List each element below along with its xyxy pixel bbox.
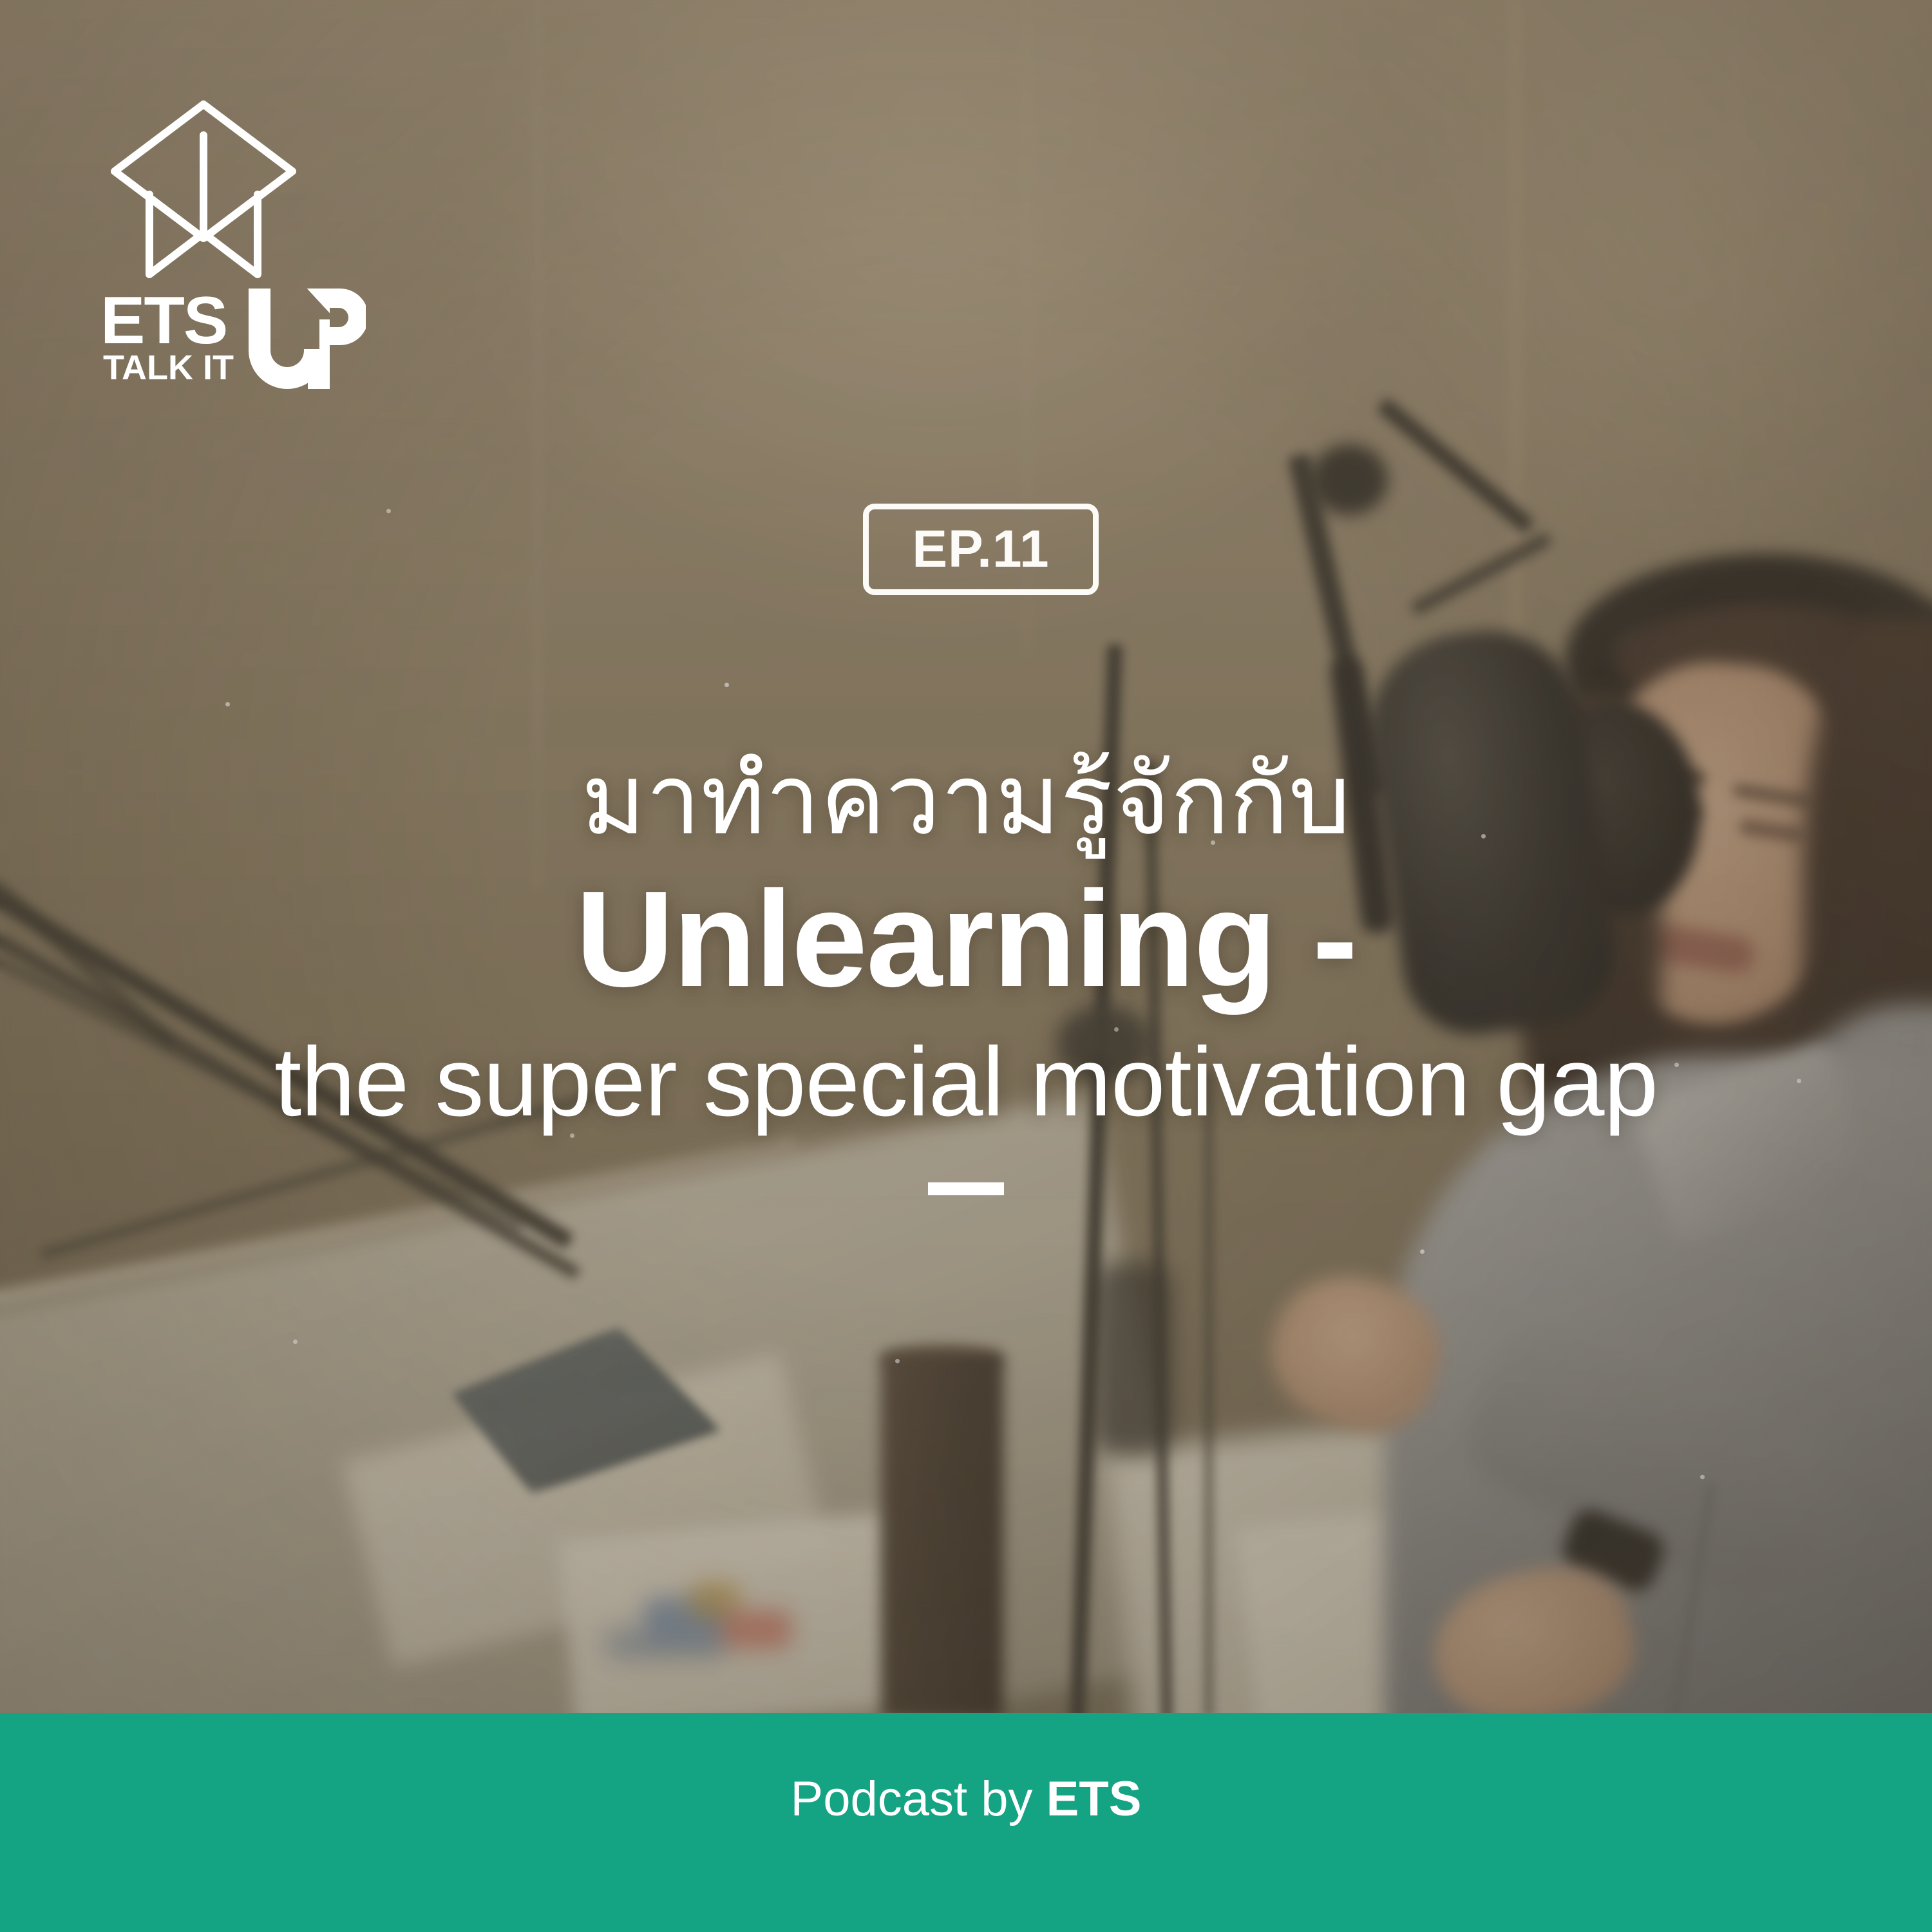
brand-logo[interactable]: ETS TALK IT xyxy=(95,97,366,390)
footer-credit-brand: ETS xyxy=(1046,1772,1142,1826)
title-main-line: Unlearning - xyxy=(0,862,1932,1015)
dust-speck xyxy=(225,702,230,706)
up-arrow-icon xyxy=(243,279,366,392)
title-sub-line: the super special motivation gap xyxy=(0,1025,1932,1140)
footer-credit-prefix: Podcast by xyxy=(791,1772,1046,1826)
dust-speck xyxy=(724,683,729,687)
podcast-cover: ETS TALK IT xyxy=(0,0,1932,1932)
logo-up-mark xyxy=(243,279,366,392)
dust-speck xyxy=(386,509,391,513)
episode-badge-label: EP.11 xyxy=(912,523,1049,576)
logo-tagline-text: TALK IT xyxy=(103,350,234,385)
episode-badge: EP.11 xyxy=(863,504,1099,595)
dust-speck xyxy=(1700,1475,1705,1479)
title-tail-dash xyxy=(928,1182,1004,1195)
dust-speck xyxy=(293,1340,298,1344)
footer-credit: Podcast by ETS xyxy=(791,1775,1142,1824)
logo-wordmark: ETS TALK IT xyxy=(95,287,366,390)
dust-speck xyxy=(1420,1249,1425,1254)
cube-diamond-icon xyxy=(107,97,300,283)
title-thai-line: มาทำความรู้จักกับ xyxy=(0,741,1932,860)
footer-bar: Podcast by ETS xyxy=(0,1713,1932,1932)
dust-speck xyxy=(895,1359,900,1363)
title-block: มาทำความรู้จักกับ Unlearning - the super… xyxy=(0,741,1932,1195)
logo-ets-text: ETS xyxy=(100,287,227,354)
